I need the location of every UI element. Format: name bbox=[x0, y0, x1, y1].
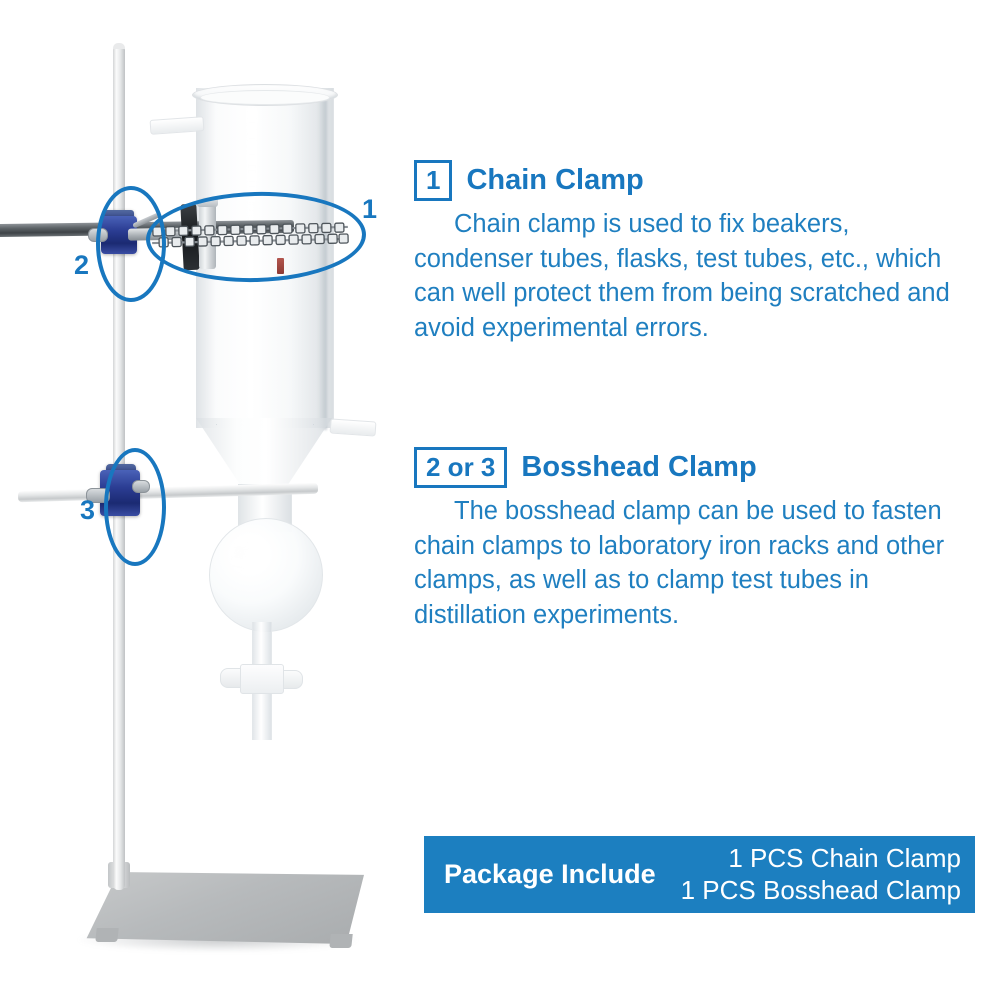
hose-barb-bottom-right bbox=[330, 418, 377, 436]
section-2-body: The bosshead clamp can be used to fasten… bbox=[414, 494, 954, 633]
section-1-body: Chain clamp is used to fix beakers, cond… bbox=[414, 207, 954, 346]
section-1-header: 1 Chain Clamp bbox=[414, 160, 984, 201]
package-item-1: 1 PCS Chain Clamp bbox=[656, 843, 961, 875]
infographic-page: 1 2 3 1 Chain Clamp Chain clamp is used … bbox=[0, 0, 1000, 1000]
stopcock-body bbox=[240, 664, 284, 694]
base-foot-left bbox=[95, 928, 118, 942]
base-foot-right bbox=[329, 934, 352, 948]
rod-cap bbox=[113, 43, 125, 49]
callout-label-1: 1 bbox=[362, 196, 377, 223]
section-2-header: 2 or 3 Bosshead Clamp bbox=[414, 447, 984, 488]
package-item-2: 1 PCS Bosshead Clamp bbox=[656, 875, 961, 907]
package-include-banner: Package Include 1 PCS Chain Clamp 1 PCS … bbox=[424, 836, 975, 913]
section-bosshead-clamp: 2 or 3 Bosshead Clamp The bosshead clamp… bbox=[414, 447, 984, 633]
section-1-badge: 1 bbox=[414, 160, 452, 201]
callout-ellipse-3 bbox=[104, 448, 166, 566]
package-include-items: 1 PCS Chain Clamp 1 PCS Bosshead Clamp bbox=[656, 843, 975, 906]
round-bottom-flask bbox=[209, 518, 323, 632]
callout-label-2: 2 bbox=[74, 252, 89, 279]
product-photo: 1 2 3 bbox=[0, 0, 410, 1000]
callout-ellipse-2 bbox=[96, 186, 166, 302]
callout-label-3: 3 bbox=[80, 497, 95, 524]
section-2-title: Bosshead Clamp bbox=[521, 453, 756, 482]
section-2-badge: 2 or 3 bbox=[414, 447, 507, 488]
section-1-title: Chain Clamp bbox=[466, 166, 643, 195]
section-chain-clamp: 1 Chain Clamp Chain clamp is used to fix… bbox=[414, 160, 984, 346]
glass-top-rim-inner bbox=[200, 90, 330, 105]
package-include-label: Package Include bbox=[424, 861, 656, 888]
